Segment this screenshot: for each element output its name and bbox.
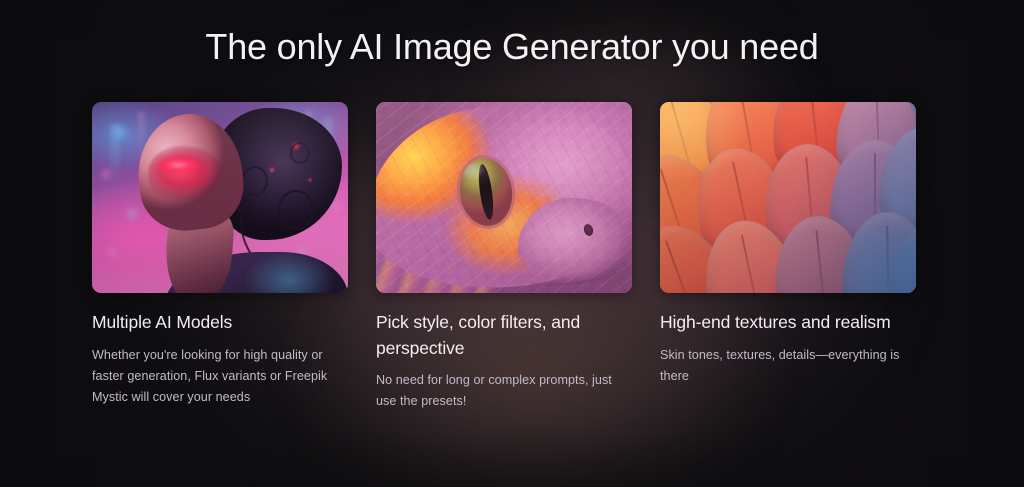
feature-card-body: No need for long or complex prompts, jus… (376, 370, 632, 412)
image-tone-overlay (376, 102, 632, 293)
page-title: The only AI Image Generator you need (0, 26, 1024, 68)
feature-card-high-end-textures-realism[interactable]: High-end textures and realism Skin tones… (660, 102, 916, 413)
hero-section: The only AI Image Generator you need Mu (0, 0, 1024, 487)
image-tone-overlay (660, 102, 916, 293)
macaw-feathers-thumbnail[interactable] (660, 102, 916, 293)
feature-card-title: Multiple AI Models (92, 310, 348, 336)
pink-snake-macro-thumbnail[interactable] (376, 102, 632, 293)
feature-card-body: Skin tones, textures, details—everything… (660, 345, 916, 387)
feature-card-pick-style-color-filters[interactable]: Pick style, color filters, and perspecti… (376, 102, 632, 413)
feature-card-list: Multiple AI Models Whether you're lookin… (92, 102, 912, 413)
feature-card-multiple-ai-models[interactable]: Multiple AI Models Whether you're lookin… (92, 102, 348, 413)
feature-card-title: High-end textures and realism (660, 310, 916, 336)
feature-card-title: Pick style, color filters, and perspecti… (376, 310, 632, 361)
image-tone-overlay (92, 102, 348, 293)
feature-card-body: Whether you're looking for high quality … (92, 345, 348, 408)
cyberpunk-cyborg-woman-thumbnail[interactable] (92, 102, 348, 293)
